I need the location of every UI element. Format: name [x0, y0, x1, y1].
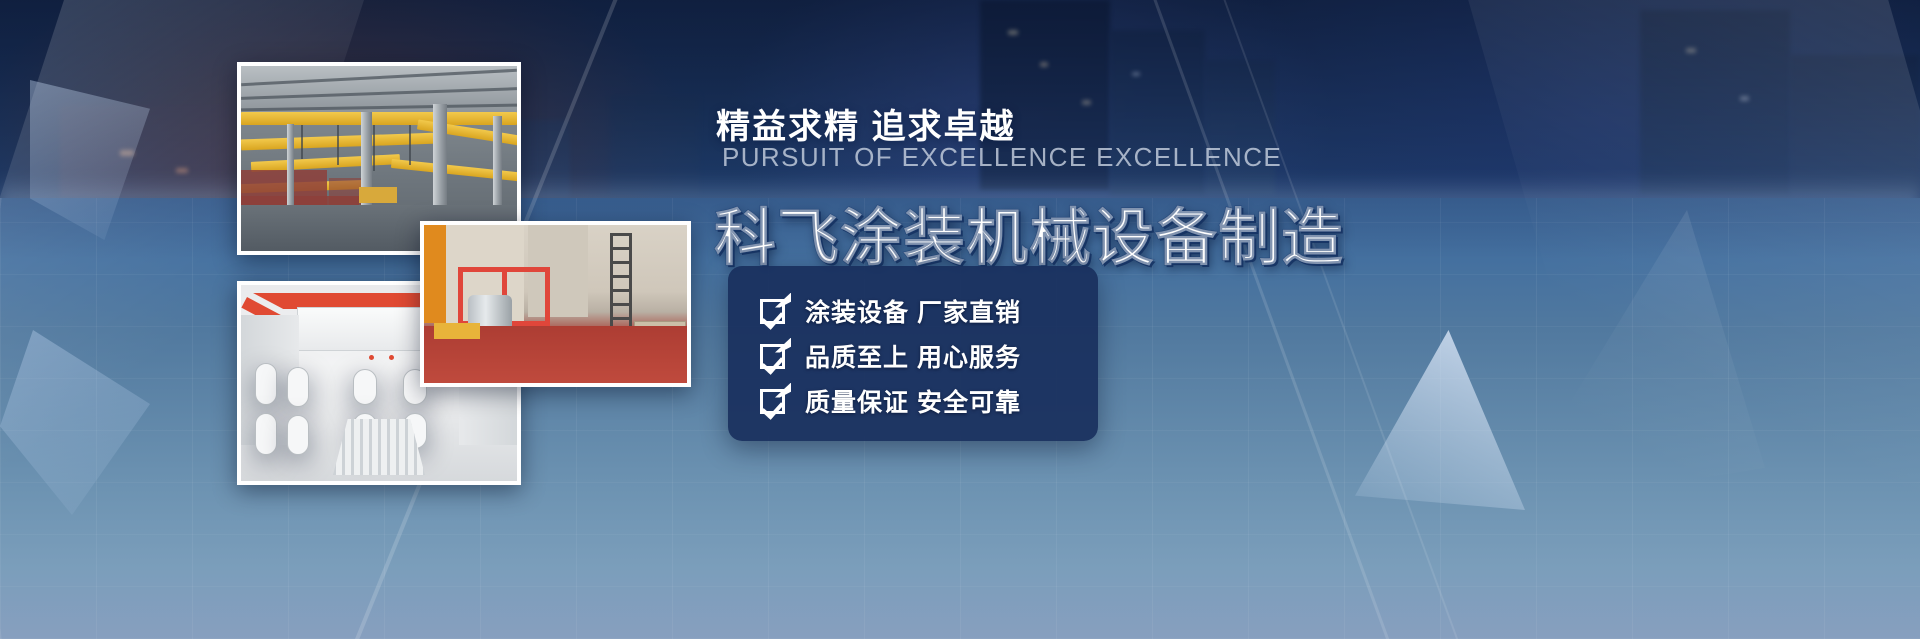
feature-item: 质量保证 安全可靠 [760, 379, 1080, 423]
photo-inner [424, 225, 687, 383]
hanger-rod [337, 125, 339, 165]
skyline-building [1640, 10, 1790, 195]
window-light [1040, 62, 1048, 67]
hanger-rod [301, 125, 303, 159]
window-light [1686, 48, 1696, 53]
yellow-conveyor-rail [241, 112, 517, 125]
yellow-pallet [359, 187, 397, 203]
feature-checklist-panel: 涂装设备 厂家直销 品质至上 用心服务 质量保证 安全可靠 [728, 266, 1098, 441]
photo-red-platform-workshop [420, 221, 691, 387]
wall-panel [255, 363, 277, 405]
banner-tagline: 精益求精 追求卓越 [716, 99, 1015, 148]
skyline-building [1205, 60, 1275, 195]
banner-subtitle-english: PURSUIT OF EXCELLENCE EXCELLENCE [722, 142, 1282, 173]
yellow-cart [434, 323, 480, 339]
feature-label: 涂装设备 厂家直销 [805, 293, 1021, 329]
feature-item: 涂装设备 厂家直销 [760, 289, 1080, 333]
feature-item: 品质至上 用心服务 [760, 334, 1080, 378]
window-light [1740, 96, 1749, 101]
window-light [1008, 30, 1018, 35]
checkbox-checked-icon [760, 299, 785, 324]
checkbox-checked-icon [760, 389, 785, 414]
window-light [120, 150, 134, 156]
floor-grating [333, 419, 425, 475]
indicator-light [389, 355, 394, 360]
workshop-scene [424, 225, 687, 383]
window-light [176, 168, 188, 173]
feature-label: 品质至上 用心服务 [805, 338, 1021, 374]
skyline-building [1790, 55, 1920, 195]
window-light [1082, 100, 1091, 105]
hero-banner: 精益求精 追求卓越 PURSUIT OF EXCELLENCE EXCELLEN… [0, 0, 1920, 639]
orange-wall-strip [424, 225, 446, 323]
feature-label: 质量保证 安全可靠 [805, 383, 1021, 419]
hanger-rod [409, 125, 411, 165]
wall-panel [353, 369, 377, 405]
banner-main-title: 科飞涂装机械设备制造 [714, 187, 1344, 277]
wall-panel [287, 415, 309, 455]
indicator-light [369, 355, 374, 360]
feature-list: 涂装设备 厂家直销 品质至上 用心服务 质量保证 安全可靠 [760, 289, 1080, 424]
wall-panel [287, 367, 309, 407]
hanger-rod [373, 125, 375, 171]
wall-panel [255, 413, 277, 455]
checkbox-checked-icon [760, 344, 785, 369]
window-light [1132, 72, 1140, 76]
